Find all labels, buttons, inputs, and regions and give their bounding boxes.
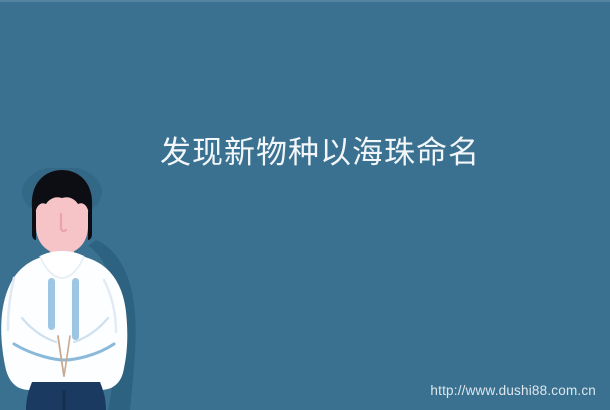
page-title: 发现新物种以海珠命名 [160,133,480,173]
person-illustration [0,168,160,410]
top-edge-line [0,0,610,2]
pants [26,382,106,410]
hoodie [1,251,127,390]
thumbnail-image: 发现新物种以海珠命名 http://www.dushi88.com.cn [0,0,610,410]
watermark-url: http://www.dushi88.com.cn [430,383,596,398]
